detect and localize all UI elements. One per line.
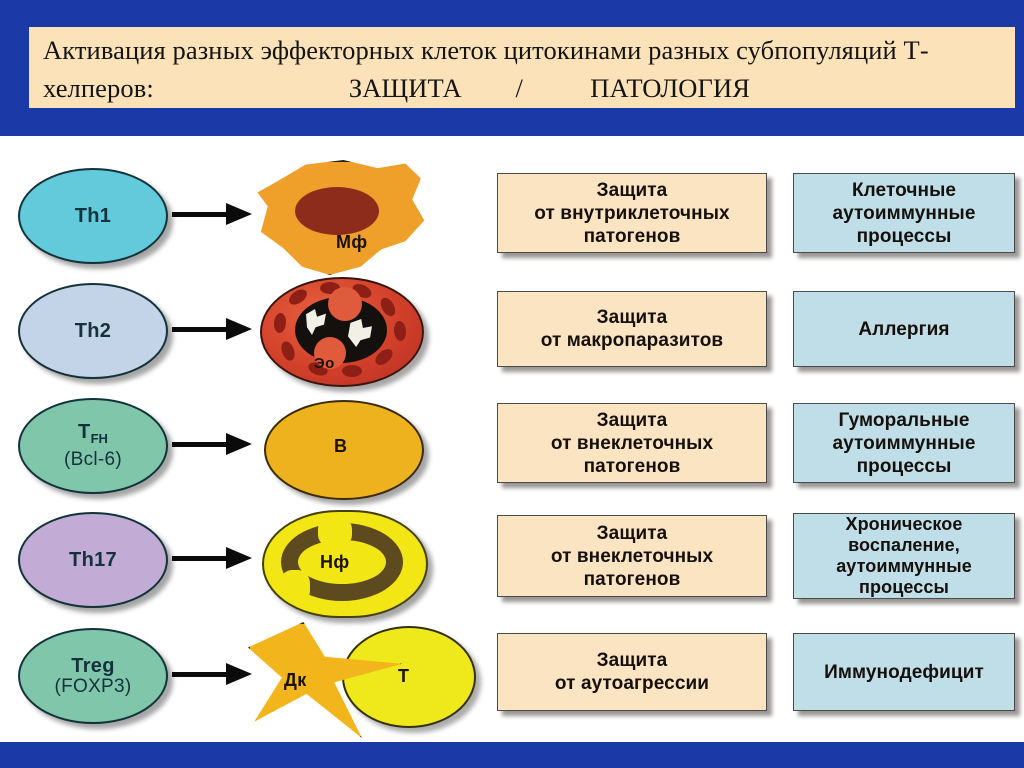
eosinophil-granule [273, 313, 287, 334]
protection-box-th1[interactable]: Защита от внутриклеточных патогенов [497, 173, 767, 253]
eosinophil-granule [286, 286, 309, 307]
row-th1: Th1 Мф Защита от внутриклеточных патоген… [0, 168, 1024, 276]
helper-cell-th17-label: Th17 [69, 550, 117, 570]
row-th2: Th2 [0, 283, 1024, 391]
effector-cell-macrophage[interactable]: Мф [248, 160, 478, 278]
dendritic-cell-label: Дк [284, 670, 307, 691]
protection-box-tfh[interactable]: Защита от внеклеточных патогенов [497, 403, 767, 483]
helper-cell-treg-label: Treg (FOXP3) [54, 656, 131, 697]
arrow-icon-tfh [172, 433, 252, 455]
helper-cell-tfh[interactable]: TFH (Bcl-6) [18, 398, 168, 494]
title-banner: Активация разных эффекторных клеток цито… [29, 27, 1015, 108]
arrow-shaft [172, 556, 230, 561]
eosinophil-label: Эо [314, 355, 335, 372]
protection-box-th17[interactable]: Защита от внеклеточных патогенов [497, 515, 767, 597]
eosinophil-granule [342, 365, 362, 377]
row-th17: Th17 Нф Защита от внеклеточных патогенов… [0, 512, 1024, 622]
helper-cell-th1[interactable]: Th1 [18, 168, 168, 264]
helper-cell-th2-label: Th2 [75, 321, 111, 341]
pathology-box-th1-text: Клеточные аутоиммунные процессы [832, 179, 975, 248]
eosinophil-nucleus-notch [328, 287, 362, 321]
pathology-box-tfh-text: Гуморальные аутоиммунные процессы [832, 409, 975, 478]
row-treg: Treg (FOXP3) Дк Т Защита от аутоагрессии… [0, 628, 1024, 736]
arrow-shaft [172, 442, 230, 447]
pathology-box-tfh[interactable]: Гуморальные аутоиммунные процессы [793, 403, 1015, 483]
helper-cell-th17[interactable]: Th17 [18, 512, 168, 608]
pathology-box-th17[interactable]: Хроническое воспаление, аутоиммунные про… [793, 513, 1015, 599]
neutrophil-nucleus-notch [318, 517, 352, 547]
protection-box-th2[interactable]: Защита от макропаразитов [497, 291, 767, 367]
pathology-box-th1[interactable]: Клеточные аутоиммунные процессы [793, 173, 1015, 253]
helper-cell-th2[interactable]: Th2 [18, 283, 168, 379]
eosinophil-body [260, 277, 424, 387]
effector-cell-dendritic-t[interactable]: Дк Т [248, 624, 478, 736]
arrow-icon-treg [172, 663, 252, 685]
arrow-icon-th2 [172, 318, 252, 340]
pathology-box-th2[interactable]: Аллергия [793, 291, 1015, 367]
bcell-label: В [334, 436, 347, 457]
macrophage-nucleus [295, 187, 379, 235]
arrow-shaft [172, 672, 230, 677]
effector-cell-bcell[interactable]: В [248, 398, 478, 502]
row-tfh: TFH (Bcl-6) В Защита от внеклеточных пат… [0, 398, 1024, 506]
protection-box-th17-text: Защита от внеклеточных патогенов [551, 522, 713, 591]
slide-canvas: Активация разных эффекторных клеток цито… [0, 0, 1024, 768]
neutrophil-label: Нф [320, 552, 350, 573]
neutrophil-nucleus-notch [280, 570, 310, 604]
pathology-box-th17-text: Хроническое воспаление, аутоиммунные про… [836, 514, 972, 598]
arrow-shaft [172, 327, 230, 332]
arrow-icon-th17 [172, 547, 252, 569]
protection-box-th1-text: Защита от внутриклеточных патогенов [534, 179, 729, 248]
macrophage-label: Мф [336, 232, 368, 253]
protection-box-treg-text: Защита от аутоагрессии [555, 649, 709, 695]
pathology-box-treg[interactable]: Иммунодефицит [793, 633, 1015, 711]
pathology-box-treg-text: Иммунодефицит [824, 661, 984, 684]
page-title: Активация разных эффекторных клеток цито… [43, 31, 1001, 107]
helper-cell-tfh-label: TFH (Bcl-6) [64, 422, 122, 470]
helper-cell-treg[interactable]: Treg (FOXP3) [18, 628, 168, 724]
eosinophil-granule [393, 321, 407, 342]
effector-cell-neutrophil[interactable]: Нф [248, 510, 478, 618]
arrow-shaft [172, 212, 230, 217]
bottom-blue-band [0, 742, 1024, 768]
helper-cell-th1-label: Th1 [75, 206, 111, 226]
protection-box-treg[interactable]: Защита от аутоагрессии [497, 633, 767, 711]
effector-cell-eosinophil[interactable]: Эо [248, 277, 478, 391]
protection-box-th2-text: Защита от макропаразитов [541, 306, 723, 352]
arrow-icon-th1 [172, 203, 252, 225]
pathology-box-th2-text: Аллергия [858, 318, 949, 341]
t-cell-label: Т [398, 666, 409, 687]
protection-box-tfh-text: Защита от внеклеточных патогенов [551, 409, 713, 478]
eosinophil-granule [279, 340, 297, 363]
